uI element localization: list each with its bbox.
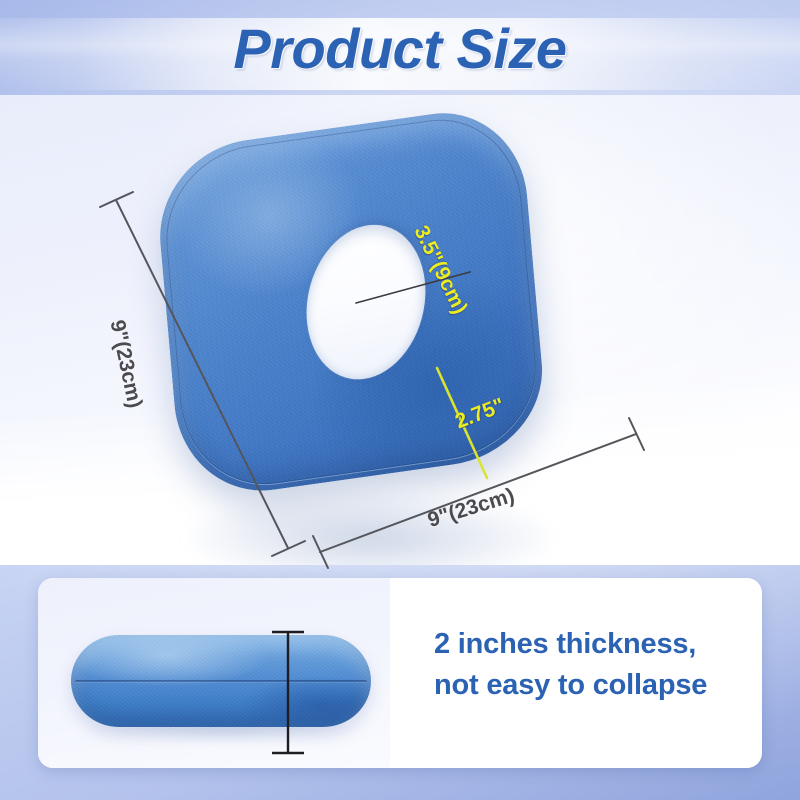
thickness-caption-line2: not easy to collapse [434, 665, 764, 706]
thickness-caption: 2 inches thickness, not easy to collapse [434, 624, 764, 706]
bottom-info-card: 2 inches thickness, not easy to collapse [38, 578, 762, 768]
thickness-measure-overlay [38, 578, 390, 768]
thickness-caption-line1: 2 inches thickness, [434, 624, 764, 665]
side-view-photo [38, 578, 390, 768]
product-size-infographic: Product Size [0, 0, 800, 800]
page-title: Product Size [0, 16, 800, 81]
donut-cushion-top-view [152, 98, 583, 553]
thickness-dimension-line [272, 632, 304, 753]
